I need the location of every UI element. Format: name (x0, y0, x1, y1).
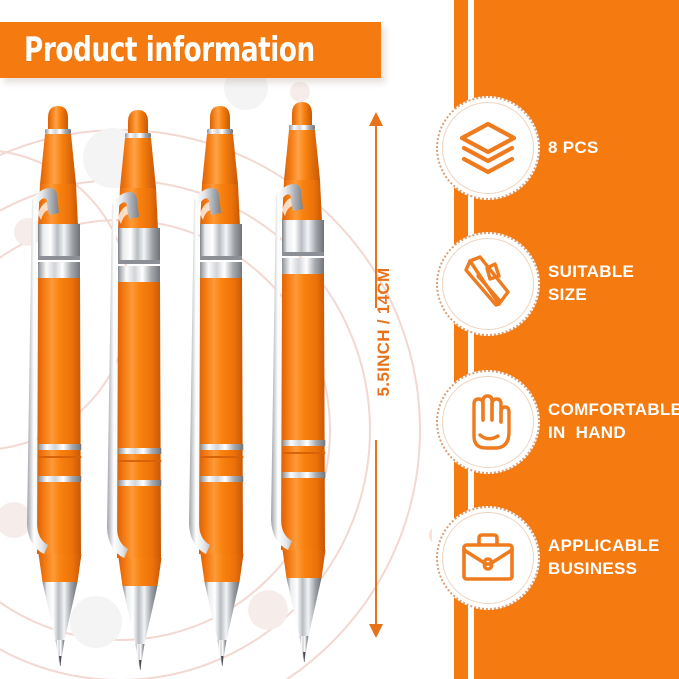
feature-label-line1: COMFORTABLE (548, 399, 676, 422)
feature-item-applicable-business[interactable]: APPLICABLE BUSINESS (432, 506, 679, 614)
product-information-infographic: Product information (0, 0, 679, 679)
hand-icon (456, 390, 520, 454)
feature-label: APPLICABLE BUSINESS (548, 506, 676, 610)
pen-4 (271, 102, 326, 662)
title-banner: Product information (0, 22, 381, 78)
feature-badge (436, 96, 540, 200)
feature-label: COMFORTABLE IN HAND (548, 370, 676, 474)
feature-badge (436, 506, 540, 610)
feature-item-8-pcs[interactable]: 8 PCS (432, 96, 679, 204)
layers-icon (456, 116, 520, 180)
pen-1 (27, 106, 82, 666)
feature-item-suitable-size[interactable]: SUITABLE SIZE (432, 232, 679, 340)
feature-label: SUITABLE SIZE (548, 232, 676, 336)
pens-group (0, 100, 360, 670)
pen-2 (107, 110, 162, 670)
page-title: Product information (24, 30, 315, 70)
dimension-label: 5.5INCH / 14CM (374, 252, 394, 412)
feature-label-line2: SIZE (548, 284, 676, 307)
feature-badge (436, 232, 540, 336)
feature-badge (436, 370, 540, 474)
stylus-pen-icon (456, 252, 520, 316)
feature-label-line1: 8 PCS (548, 137, 676, 160)
briefcase-icon (456, 526, 520, 590)
feature-label-line2: BUSINESS (548, 558, 676, 581)
features-panel: 8 PCS SUITABLE SIZE (432, 0, 679, 679)
feature-item-comfortable-in-hand[interactable]: COMFORTABLE IN HAND (432, 370, 679, 478)
feature-label-line2: IN HAND (548, 422, 676, 445)
feature-label-line1: APPLICABLE (548, 535, 676, 558)
feature-label: 8 PCS (548, 96, 676, 200)
dimension-indicator: 5.5INCH / 14CM (352, 110, 400, 640)
pens-illustration (0, 100, 360, 670)
pen-3 (189, 106, 244, 666)
feature-label-line1: SUITABLE (548, 261, 676, 284)
